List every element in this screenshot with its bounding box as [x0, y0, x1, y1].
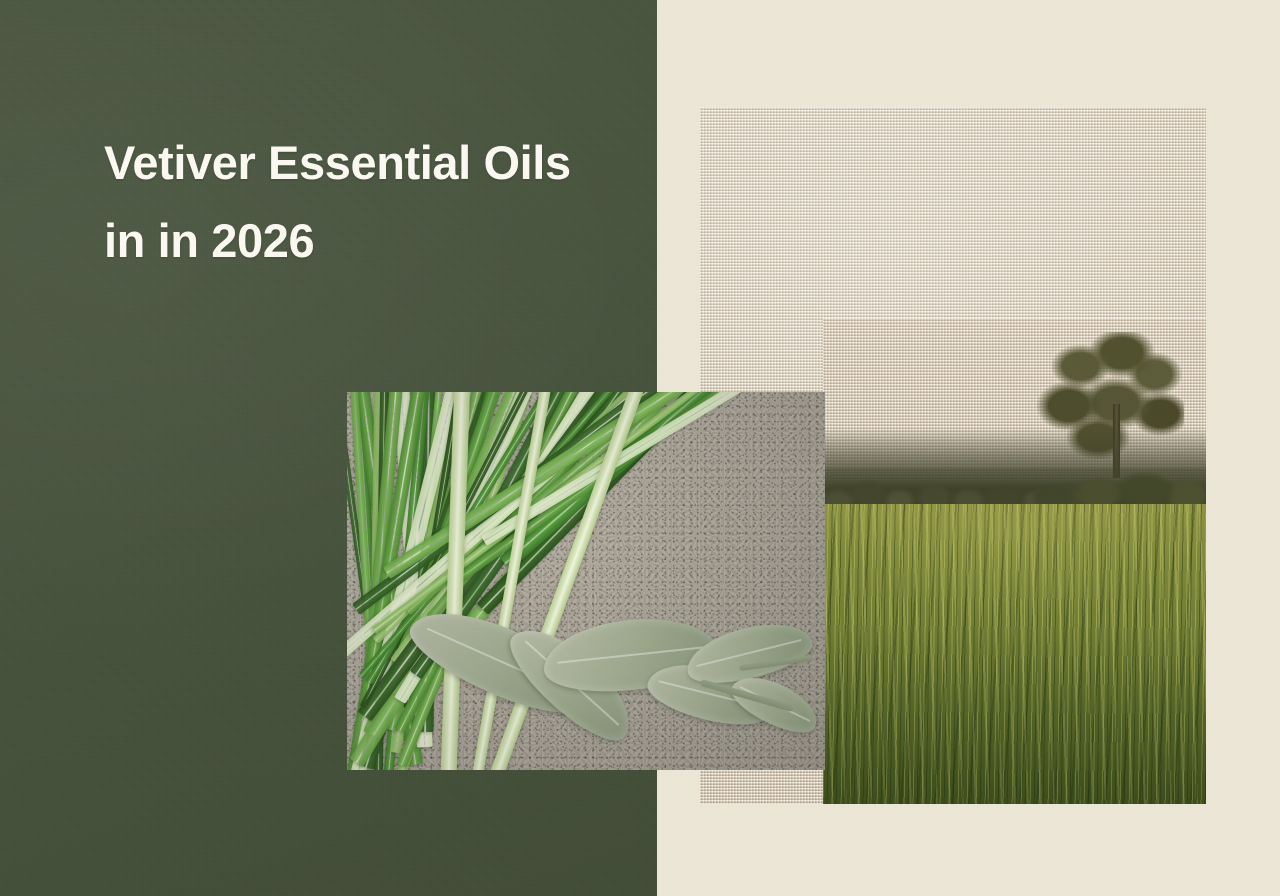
landscape-photo — [823, 318, 1206, 804]
poster-canvas: Vetiver Essential Oils in in 2026 — [0, 0, 1280, 896]
sage-leaf-midrib — [557, 646, 704, 663]
page-title: Vetiver Essential Oils in in 2026 — [104, 124, 644, 280]
page-title-line-1: Vetiver Essential Oils — [104, 124, 644, 202]
grass-field — [823, 504, 1206, 804]
vetiver-macro-photo — [347, 392, 825, 770]
page-title-line-2: in in 2026 — [104, 202, 644, 280]
sage-leaf-group — [347, 392, 825, 770]
